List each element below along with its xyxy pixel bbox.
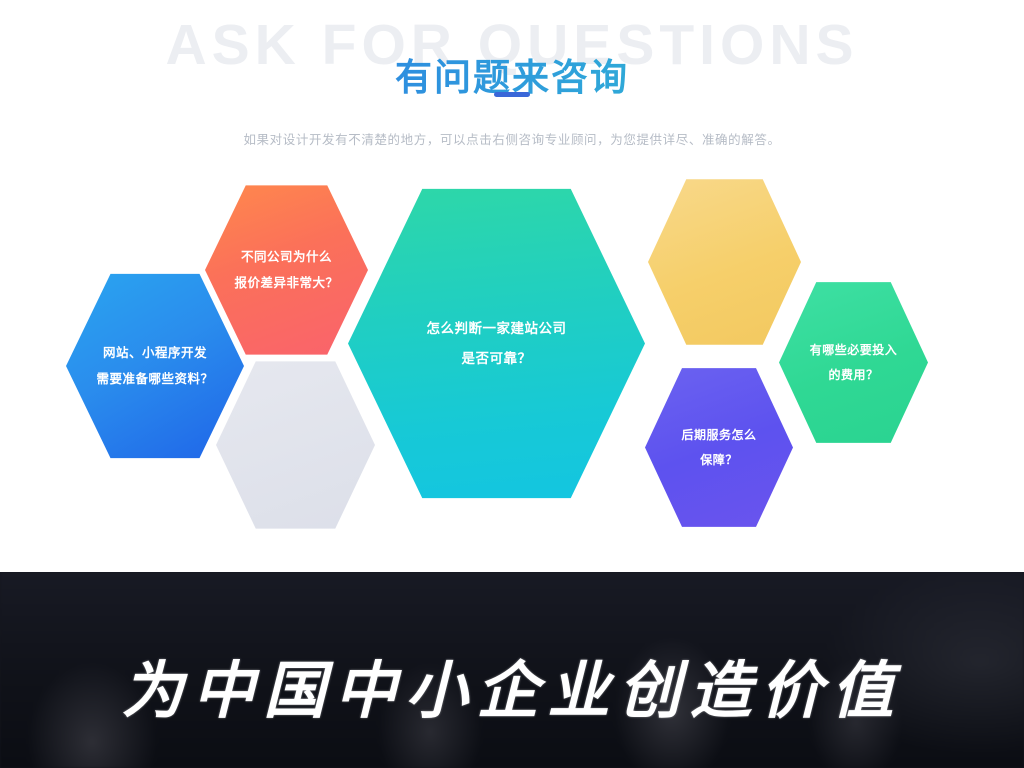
page-root: ASK FOR QUESTIONS 有问题来咨询 如果对设计开发有不清楚的地方，…	[0, 0, 1024, 768]
question-line-1: 怎么判断一家建站公司	[427, 314, 567, 344]
section-header: ASK FOR QUESTIONS 有问题来咨询 如果对设计开发有不清楚的地方，…	[0, 0, 1024, 160]
question-hexagon-after-sales[interactable]: 后期服务怎么 保障？	[645, 363, 793, 532]
question-line-2: 保障？	[700, 448, 738, 473]
question-line-2: 的费用？	[828, 363, 878, 388]
question-line-2: 报价差异非常大？	[234, 270, 338, 296]
question-hexagon-reliable-company[interactable]: 怎么判断一家建站公司 是否可靠？	[348, 179, 645, 508]
question-hexagon-price-difference[interactable]: 不同公司为什么 报价差异非常大？	[205, 180, 368, 360]
question-line-2: 是否可靠？	[462, 344, 532, 374]
bottom-banner: 为中国中小企业创造价值	[0, 572, 1024, 768]
banner-slogan: 为中国中小企业创造价值	[0, 640, 1024, 730]
title-divider	[494, 92, 530, 97]
question-hexagon-website-materials[interactable]: 网站、小程序开发 需要准备哪些资料？	[66, 268, 244, 464]
question-line-1: 不同公司为什么	[241, 244, 332, 270]
question-hexagon-necessary-costs[interactable]: 有哪些必要投入 的费用？	[779, 277, 928, 448]
page-subtitle: 如果对设计开发有不清楚的地方，可以点击右侧咨询专业顾问，为您提供详尽、准确的解答…	[0, 130, 1024, 150]
hexagon-cluster: 网站、小程序开发 需要准备哪些资料？ 不同公司为什么 报价差异非常大？ 怎么判断…	[0, 160, 1024, 560]
decorative-hexagon-yellow	[648, 174, 801, 350]
question-line-1: 后期服务怎么	[681, 423, 756, 448]
question-line-2: 需要准备哪些资料？	[96, 366, 213, 392]
question-line-1: 有哪些必要投入	[810, 338, 898, 363]
decorative-hexagon-gray	[216, 356, 375, 534]
question-line-1: 网站、小程序开发	[103, 340, 207, 366]
